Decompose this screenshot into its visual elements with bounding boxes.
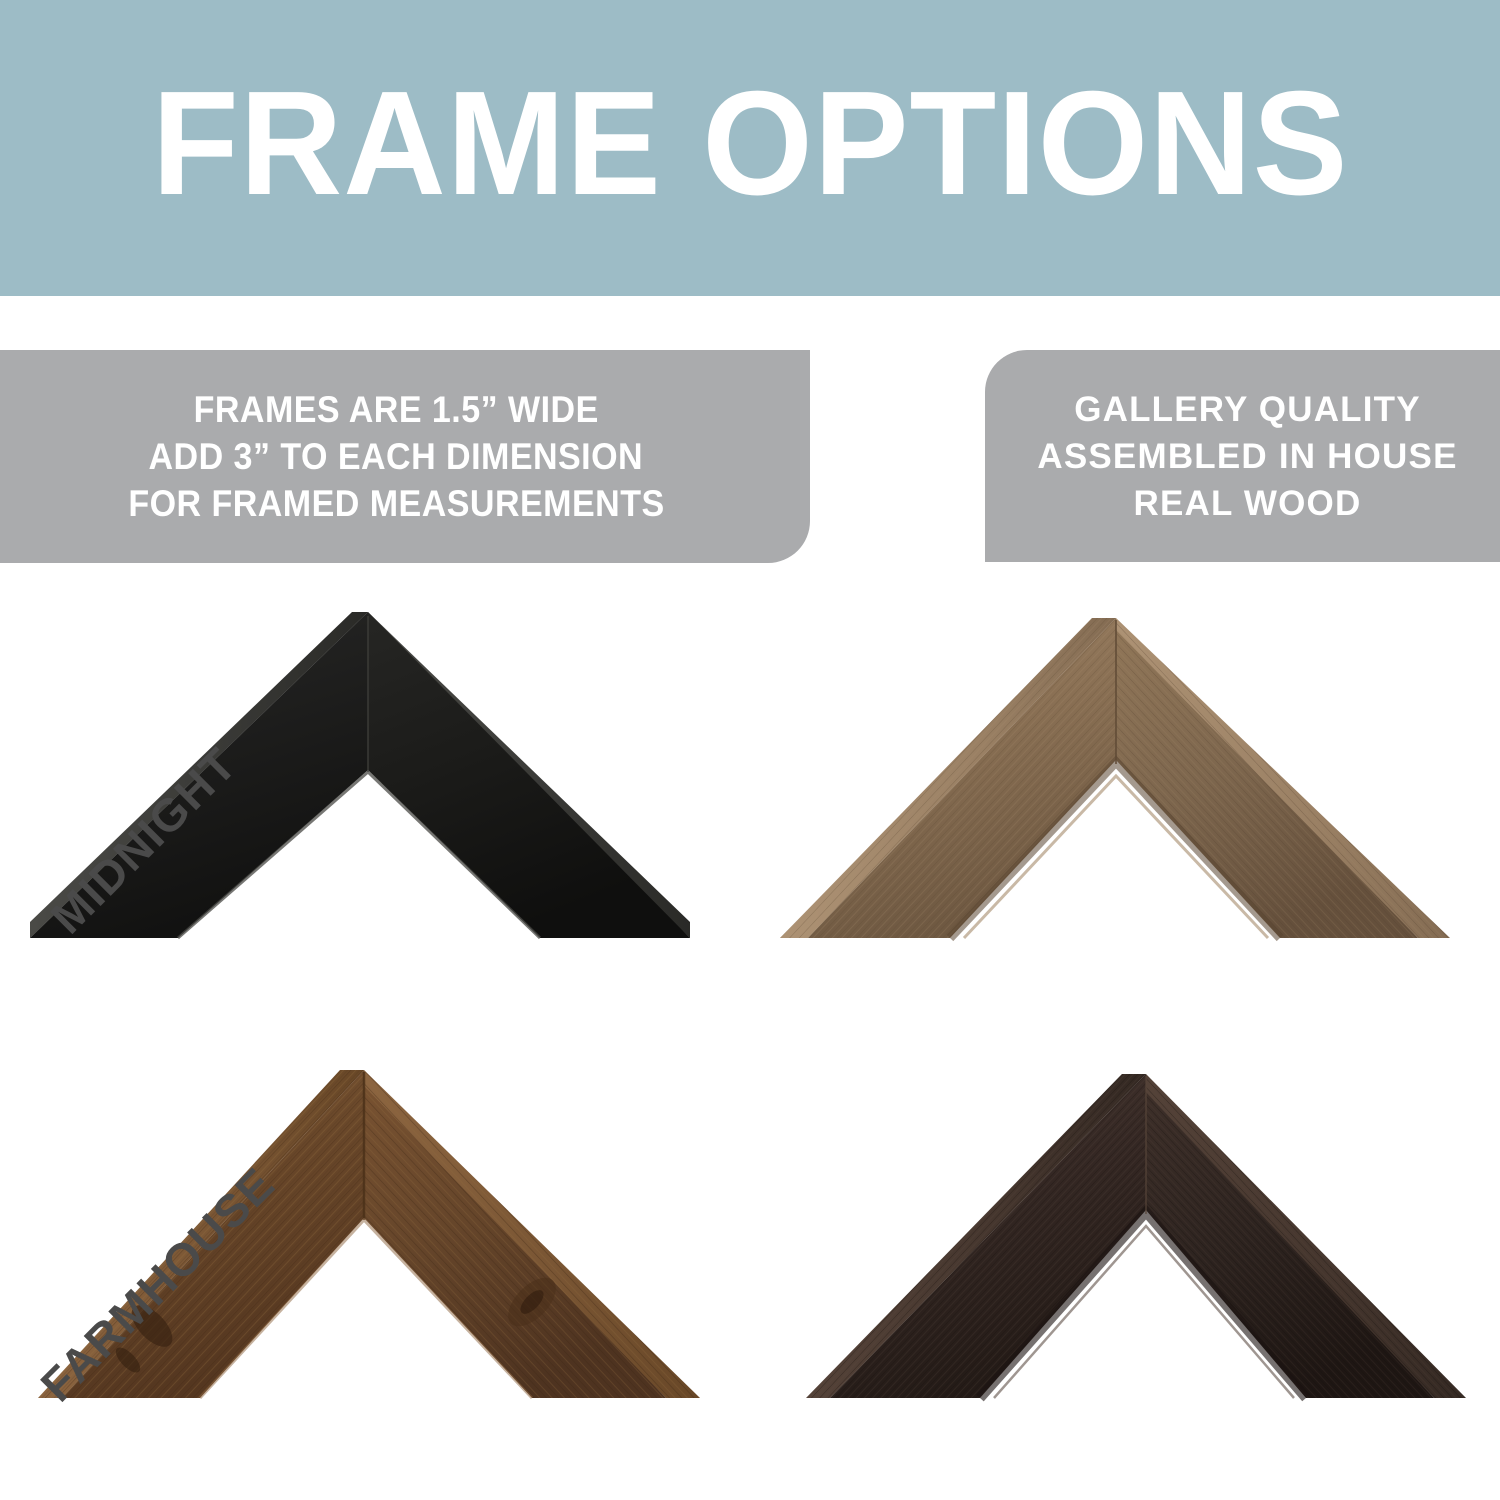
frame-corner-graphic-driftwood xyxy=(750,590,1500,1010)
frame-options-page: FRAME OPTIONS FRAMES ARE 1.5” WIDE ADD 3… xyxy=(0,0,1500,1500)
frame-corner-graphic-charcoal xyxy=(750,1050,1500,1470)
frame-sample-charcoal[interactable]: CHARCOAL xyxy=(750,1050,1500,1500)
info-line: ADD 3” TO EACH DIMENSION xyxy=(149,433,644,480)
frame-sample-driftwood[interactable]: DRIFTWOOD xyxy=(750,590,1500,1050)
page-title: FRAME OPTIONS xyxy=(152,70,1349,226)
frame-corner-graphic-midnight xyxy=(0,590,750,1010)
info-box-quality: GALLERY QUALITY ASSEMBLED IN HOUSE REAL … xyxy=(985,350,1500,562)
info-box-measurements: FRAMES ARE 1.5” WIDE ADD 3” TO EACH DIME… xyxy=(0,350,810,563)
frame-sample-midnight[interactable]: MIDNIGHT xyxy=(0,590,750,1050)
info-line: FOR FRAMED MEASUREMENTS xyxy=(128,480,664,527)
header-banner: FRAME OPTIONS xyxy=(0,0,1500,296)
info-line: REAL WOOD xyxy=(1134,480,1362,527)
info-line: FRAMES ARE 1.5” WIDE xyxy=(193,386,598,433)
info-line: GALLERY QUALITY xyxy=(1074,386,1421,433)
info-line: ASSEMBLED IN HOUSE xyxy=(1037,433,1457,480)
frame-corner-graphic-farmhouse xyxy=(0,1050,750,1470)
frame-sample-farmhouse[interactable]: FARMHOUSE xyxy=(0,1050,750,1500)
